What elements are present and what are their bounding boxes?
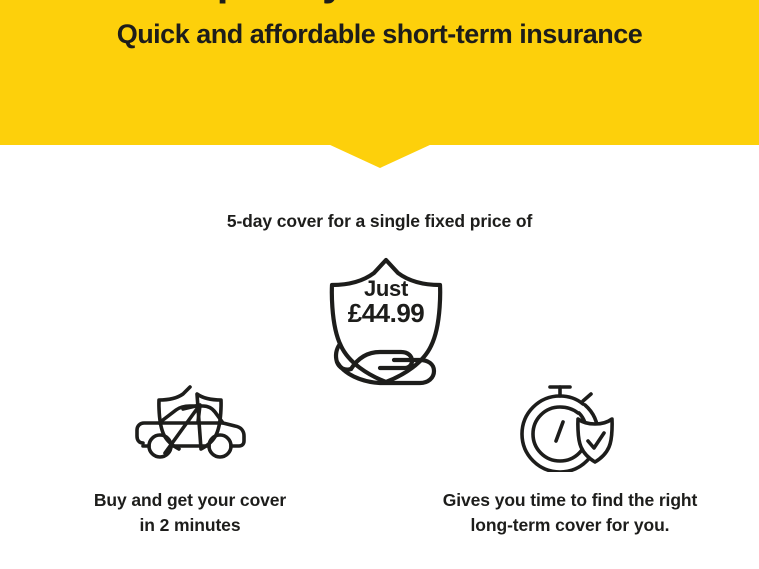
feature-caption: Gives you time to find the right long-te… — [410, 488, 730, 538]
feature-caption-line-2: in 2 minutes — [30, 513, 350, 538]
header-banner: Temporary car insurance Quick and afford… — [0, 0, 759, 145]
feature-caption-line-2: long-term cover for you. — [410, 513, 730, 538]
car-with-shield-and-arrow-icon — [30, 380, 350, 472]
down-caret-notch-icon — [328, 144, 432, 168]
banner-subtitle: Quick and affordable short-term insuranc… — [0, 17, 759, 51]
feature-time-to-choose: Gives you time to find the right long-te… — [410, 380, 730, 538]
feature-caption-line-1: Gives you time to find the right — [410, 488, 730, 513]
shield-in-hand-icon — [316, 252, 456, 392]
price-lead-text: 5-day cover for a single fixed price of — [0, 211, 759, 232]
stopwatch-with-shield-check-icon — [410, 380, 730, 472]
feature-caption: Buy and get your cover in 2 minutes — [30, 488, 350, 538]
banner-title: Temporary car insurance — [0, 0, 759, 6]
feature-buy-fast: Buy and get your cover in 2 minutes — [30, 380, 350, 538]
feature-caption-line-1: Buy and get your cover — [30, 488, 350, 513]
